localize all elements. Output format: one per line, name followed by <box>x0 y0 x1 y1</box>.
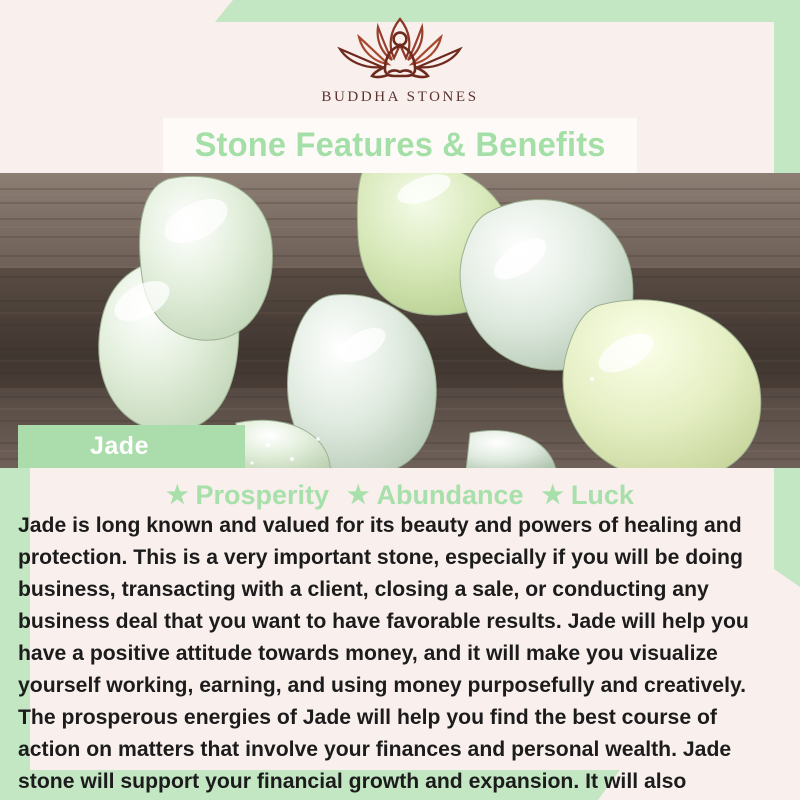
stone-name: Jade <box>90 432 149 461</box>
star-icon: ★ <box>347 483 369 508</box>
star-icon: ★ <box>166 483 188 508</box>
stone-photo <box>0 173 800 468</box>
stone-description: Jade is long known and valued for its be… <box>18 509 773 800</box>
stone-name-bar: Jade <box>18 425 245 468</box>
stone-info-card: BUDDHA STONES Stone Features & Benefits <box>0 0 800 800</box>
keyword-abundance: ★ Abundance <box>347 480 523 511</box>
keyword-label: Luck <box>571 480 634 511</box>
page-title: Stone Features & Benefits <box>194 126 605 165</box>
lotus-meditation-icon <box>326 15 474 85</box>
star-icon: ★ <box>541 483 563 508</box>
keyword-prosperity: ★ Prosperity <box>166 480 329 511</box>
keyword-label: Prosperity <box>195 480 329 511</box>
brand-header: BUDDHA STONES <box>0 0 800 120</box>
page-title-band: Stone Features & Benefits <box>163 118 637 173</box>
stone-description-panel: Jade is long known and valued for its be… <box>18 509 785 800</box>
stone-photo-illustration <box>0 173 800 468</box>
brand-logo: BUDDHA STONES <box>321 15 478 106</box>
brand-name: BUDDHA STONES <box>321 89 478 106</box>
keyword-luck: ★ Luck <box>541 480 633 511</box>
keyword-label: Abundance <box>376 480 523 511</box>
stone-keywords: ★ Prosperity ★ Abundance ★ Luck <box>0 480 800 511</box>
